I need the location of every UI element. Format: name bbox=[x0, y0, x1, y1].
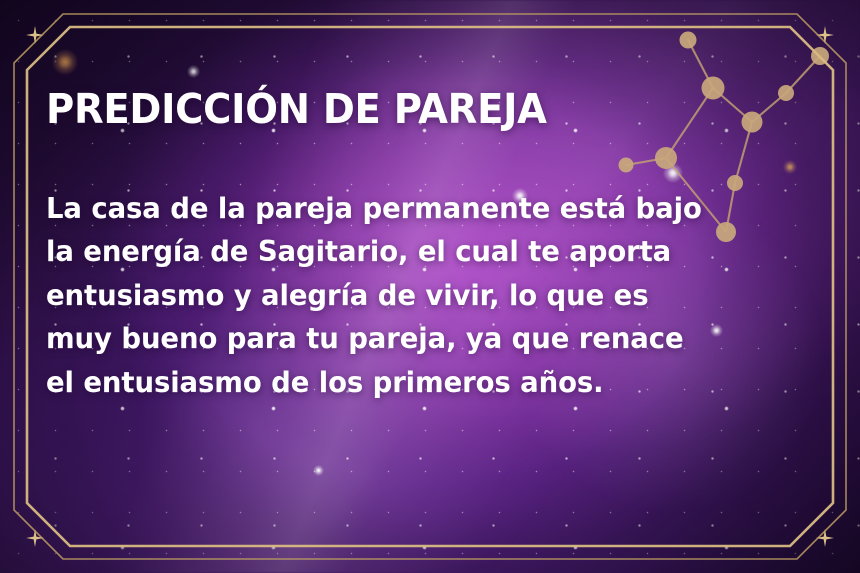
warm-star-topleft bbox=[52, 49, 78, 75]
sparkle-icon-top-left bbox=[26, 26, 44, 44]
prediction-body-text: La casa de la pareja permanente está baj… bbox=[46, 131, 702, 405]
white-star-bottom bbox=[313, 465, 324, 476]
constellation-edge bbox=[688, 40, 713, 88]
sparkle-icon-top-right bbox=[816, 26, 834, 44]
constellation-edge bbox=[752, 93, 786, 122]
warm-star-right bbox=[783, 160, 797, 174]
page-title: PREDICCIÓN DE PAREJA bbox=[46, 88, 704, 131]
constellation-node bbox=[680, 32, 697, 49]
constellation-edge bbox=[786, 56, 820, 93]
constellation-node bbox=[778, 85, 794, 101]
horoscope-card: PREDICCIÓN DE PAREJA La casa de la parej… bbox=[0, 0, 860, 573]
warm-star-small bbox=[187, 65, 200, 78]
constellation-node bbox=[811, 47, 829, 65]
sparkle-icon-bottom-right bbox=[816, 529, 834, 547]
card-content: PREDICCIÓN DE PAREJA La casa de la parej… bbox=[46, 88, 746, 405]
sparkle-icon-bottom-left bbox=[26, 529, 44, 547]
